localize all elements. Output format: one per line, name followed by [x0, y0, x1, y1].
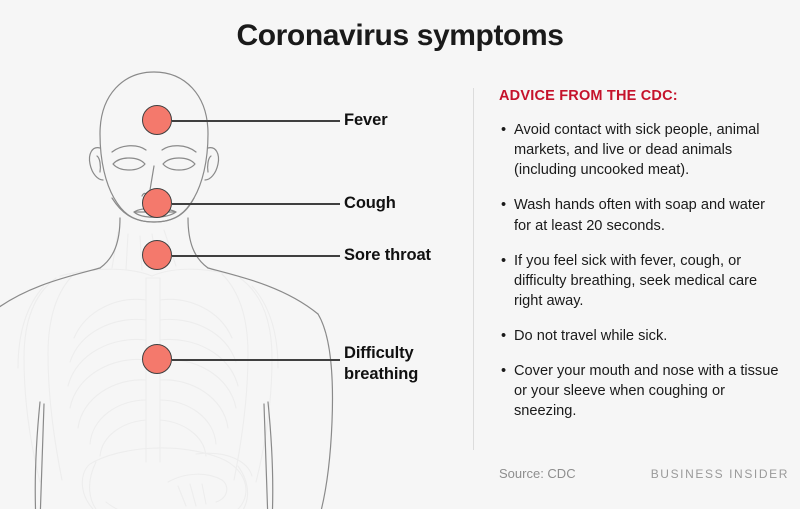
advice-item: • Wash hands often with soap and water f…	[499, 195, 784, 235]
human-body-line-art	[0, 62, 470, 509]
bullet-glyph: •	[501, 251, 506, 271]
footer: Source: CDC BUSINESS INSIDER	[499, 466, 789, 481]
brand-logo: BUSINESS INSIDER	[651, 467, 789, 481]
symptom-leader-cough	[172, 203, 340, 205]
bullet-glyph: •	[501, 326, 506, 346]
advice-item-text: Wash hands often with soap and water for…	[514, 197, 765, 233]
symptom-marker-fever[interactable]	[142, 105, 172, 135]
advice-heading: ADVICE FROM THE CDC:	[499, 88, 784, 104]
advice-item-text: Do not travel while sick.	[514, 328, 667, 344]
panel-divider	[473, 88, 474, 450]
symptom-marker-sore-throat[interactable]	[142, 240, 172, 270]
symptom-marker-cough[interactable]	[142, 188, 172, 218]
infographic-root: Coronavirus symptoms	[0, 0, 800, 509]
page-title: Coronavirus symptoms	[0, 18, 800, 54]
symptom-label-fever: Fever	[344, 110, 388, 131]
symptom-leader-sore-throat	[172, 255, 340, 257]
advice-item: • If you feel sick with fever, cough, or…	[499, 251, 784, 311]
advice-item: • Avoid contact with sick people, animal…	[499, 120, 784, 180]
source-credit: Source: CDC	[499, 466, 576, 481]
symptom-label-difficulty-breathing: Difficulty breathing	[344, 343, 418, 385]
symptom-label-sore-throat: Sore throat	[344, 245, 431, 266]
symptom-leader-difficulty-breathing	[172, 359, 340, 361]
body-illustration-panel: Fever Cough Sore throat Difficulty breat…	[0, 62, 470, 509]
symptom-marker-difficulty-breathing[interactable]	[142, 344, 172, 374]
symptom-label-cough: Cough	[344, 193, 396, 214]
advice-item: • Do not travel while sick.	[499, 326, 784, 346]
cdc-advice-panel: ADVICE FROM THE CDC: • Avoid contact wit…	[499, 88, 784, 437]
bullet-glyph: •	[501, 361, 506, 381]
bullet-glyph: •	[501, 195, 506, 215]
bullet-glyph: •	[501, 120, 506, 140]
advice-item-text: Avoid contact with sick people, animal m…	[514, 122, 760, 178]
symptom-leader-fever	[172, 120, 340, 122]
advice-item-text: If you feel sick with fever, cough, or d…	[514, 253, 757, 309]
advice-item: • Cover your mouth and nose with a tissu…	[499, 361, 784, 421]
advice-item-text: Cover your mouth and nose with a tissue …	[514, 363, 778, 419]
